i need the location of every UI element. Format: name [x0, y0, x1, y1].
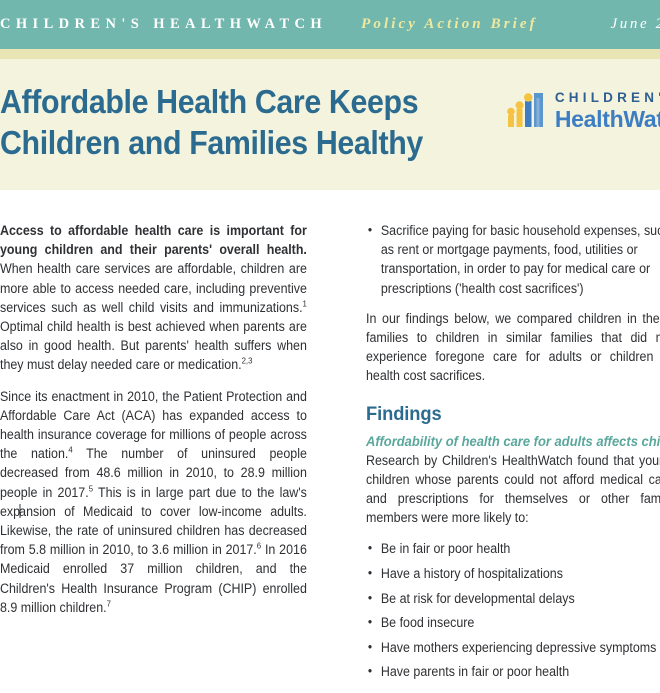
body-area: Access to affordable health care is impo…: [0, 190, 660, 576]
page-title-line-1: Affordable Health Care Keeps: [0, 81, 423, 122]
list-item: Have mothers experiencing depressive sym…: [366, 638, 660, 657]
masthead-inner: CHILDREN'S HEALTHWATCH Policy Action Bri…: [0, 0, 660, 49]
left-paragraph-1-rest: When health care services are affordable…: [0, 261, 307, 314]
right-paragraph-1: In our findings below, we compared child…: [366, 309, 660, 386]
masthead-date: June 2019: [611, 16, 660, 33]
masthead-brand: CHILDREN'S HEALTHWATCH: [0, 16, 327, 33]
list-item: Sacrifice paying for basic household exp…: [366, 221, 660, 298]
logo-healthwatch-text: HealthWatch: [555, 108, 660, 131]
organization-logo: CHILDREN'S HealthWatch: [500, 89, 660, 133]
two-column-layout: Access to affordable health care is impo…: [0, 221, 660, 693]
left-column: Access to affordable health care is impo…: [0, 221, 330, 693]
list-item: Be food insecure: [366, 613, 660, 632]
logo-childrens-text: CHILDREN'S: [555, 91, 660, 105]
footnote-ref-7: 7: [107, 598, 111, 608]
healthwatch-bars-logo-icon: [500, 89, 546, 133]
title-banner: Affordable Health Care Keeps Children an…: [0, 59, 660, 190]
list-item: Have parents in fair or poor health: [366, 662, 660, 681]
right-column: Sacrifice paying for basic household exp…: [366, 221, 660, 693]
page-title: Affordable Health Care Keeps Children an…: [0, 81, 460, 163]
findings-heading: Findings: [366, 403, 660, 426]
footnote-ref-1: 1: [303, 298, 307, 308]
findings-subheading: Affordability of health care for adults …: [366, 434, 660, 449]
left-paragraph-1-rest2: Optimal child health is best achieved wh…: [0, 319, 307, 372]
footnote-ref-2-3: 2,3: [242, 356, 253, 366]
masthead-bar: CHILDREN'S HEALTHWATCH Policy Action Bri…: [0, 0, 660, 49]
findings-intro: Research by Children's HealthWatch found…: [366, 451, 660, 528]
logo-wordmark: CHILDREN'S HealthWatch: [555, 91, 660, 131]
list-item: Be at risk for developmental delays: [366, 589, 660, 608]
left-paragraph-1-lead: Access to affordable health care is impo…: [0, 223, 307, 257]
khaki-divider-band: [0, 49, 660, 59]
left-paragraph-1: Access to affordable health care is impo…: [0, 221, 307, 375]
health-cost-bullet-list: Sacrifice paying for basic household exp…: [366, 221, 660, 298]
findings-bullet-list: Be in fair or poor health Have a history…: [366, 539, 660, 681]
list-item: Have a history of hospitalizations: [366, 564, 660, 583]
masthead-kicker: Policy Action Brief: [361, 16, 538, 33]
document-page: CHILDREN'S HEALTHWATCH Policy Action Bri…: [0, 0, 660, 576]
page-title-line-2: Children and Families Healthy: [0, 122, 423, 163]
list-item: Be in fair or poor health: [366, 539, 660, 558]
left-paragraph-2: Since its enactment in 2010, the Patient…: [0, 387, 307, 617]
